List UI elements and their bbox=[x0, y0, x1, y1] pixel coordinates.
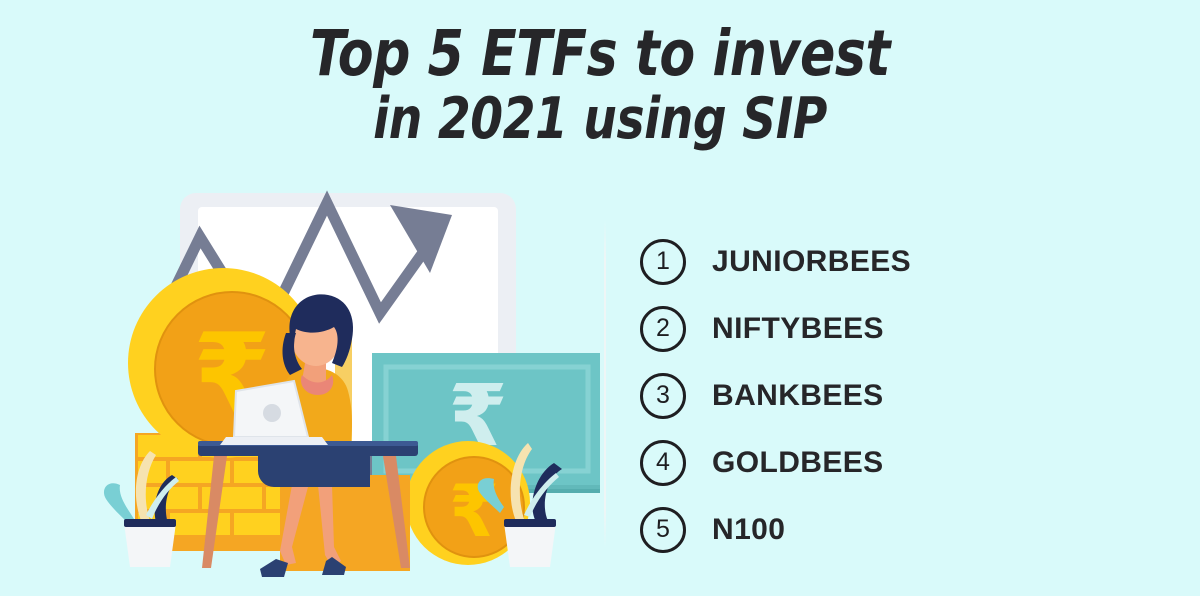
list-item-label: NIFTYBEES bbox=[712, 312, 884, 346]
list-item-number: 4 bbox=[640, 440, 686, 486]
list-item-label: GOLDBEES bbox=[712, 446, 884, 480]
list-item[interactable]: 5 N100 bbox=[640, 496, 1160, 563]
list-item-number: 3 bbox=[640, 373, 686, 419]
list-item-number: 5 bbox=[640, 507, 686, 553]
investment-growth-illustration: ₹ ₹ ₹ bbox=[80, 185, 600, 585]
poster-canvas: Top 5 ETFs to invest in 2021 using SIP bbox=[0, 0, 1200, 596]
list-item-label: BANKBEES bbox=[712, 379, 884, 413]
list-item-number: 1 bbox=[640, 239, 686, 285]
list-item-number: 2 bbox=[640, 306, 686, 352]
title-line-2: in 2021 using SIP bbox=[48, 90, 1152, 148]
title-line-1: Top 5 ETFs to invest bbox=[48, 22, 1152, 86]
etf-list: 1 JUNIORBEES 2 NIFTYBEES 3 BANKBEES 4 GO… bbox=[640, 228, 1160, 563]
list-item[interactable]: 1 JUNIORBEES bbox=[640, 228, 1160, 295]
list-item[interactable]: 3 BANKBEES bbox=[640, 362, 1160, 429]
list-item-label: N100 bbox=[712, 513, 785, 547]
list-item[interactable]: 4 GOLDBEES bbox=[640, 429, 1160, 496]
page-title: Top 5 ETFs to invest in 2021 using SIP bbox=[0, 22, 1200, 148]
list-item-label: JUNIORBEES bbox=[712, 245, 911, 279]
list-item[interactable]: 2 NIFTYBEES bbox=[640, 295, 1160, 362]
vertical-divider bbox=[604, 220, 606, 548]
